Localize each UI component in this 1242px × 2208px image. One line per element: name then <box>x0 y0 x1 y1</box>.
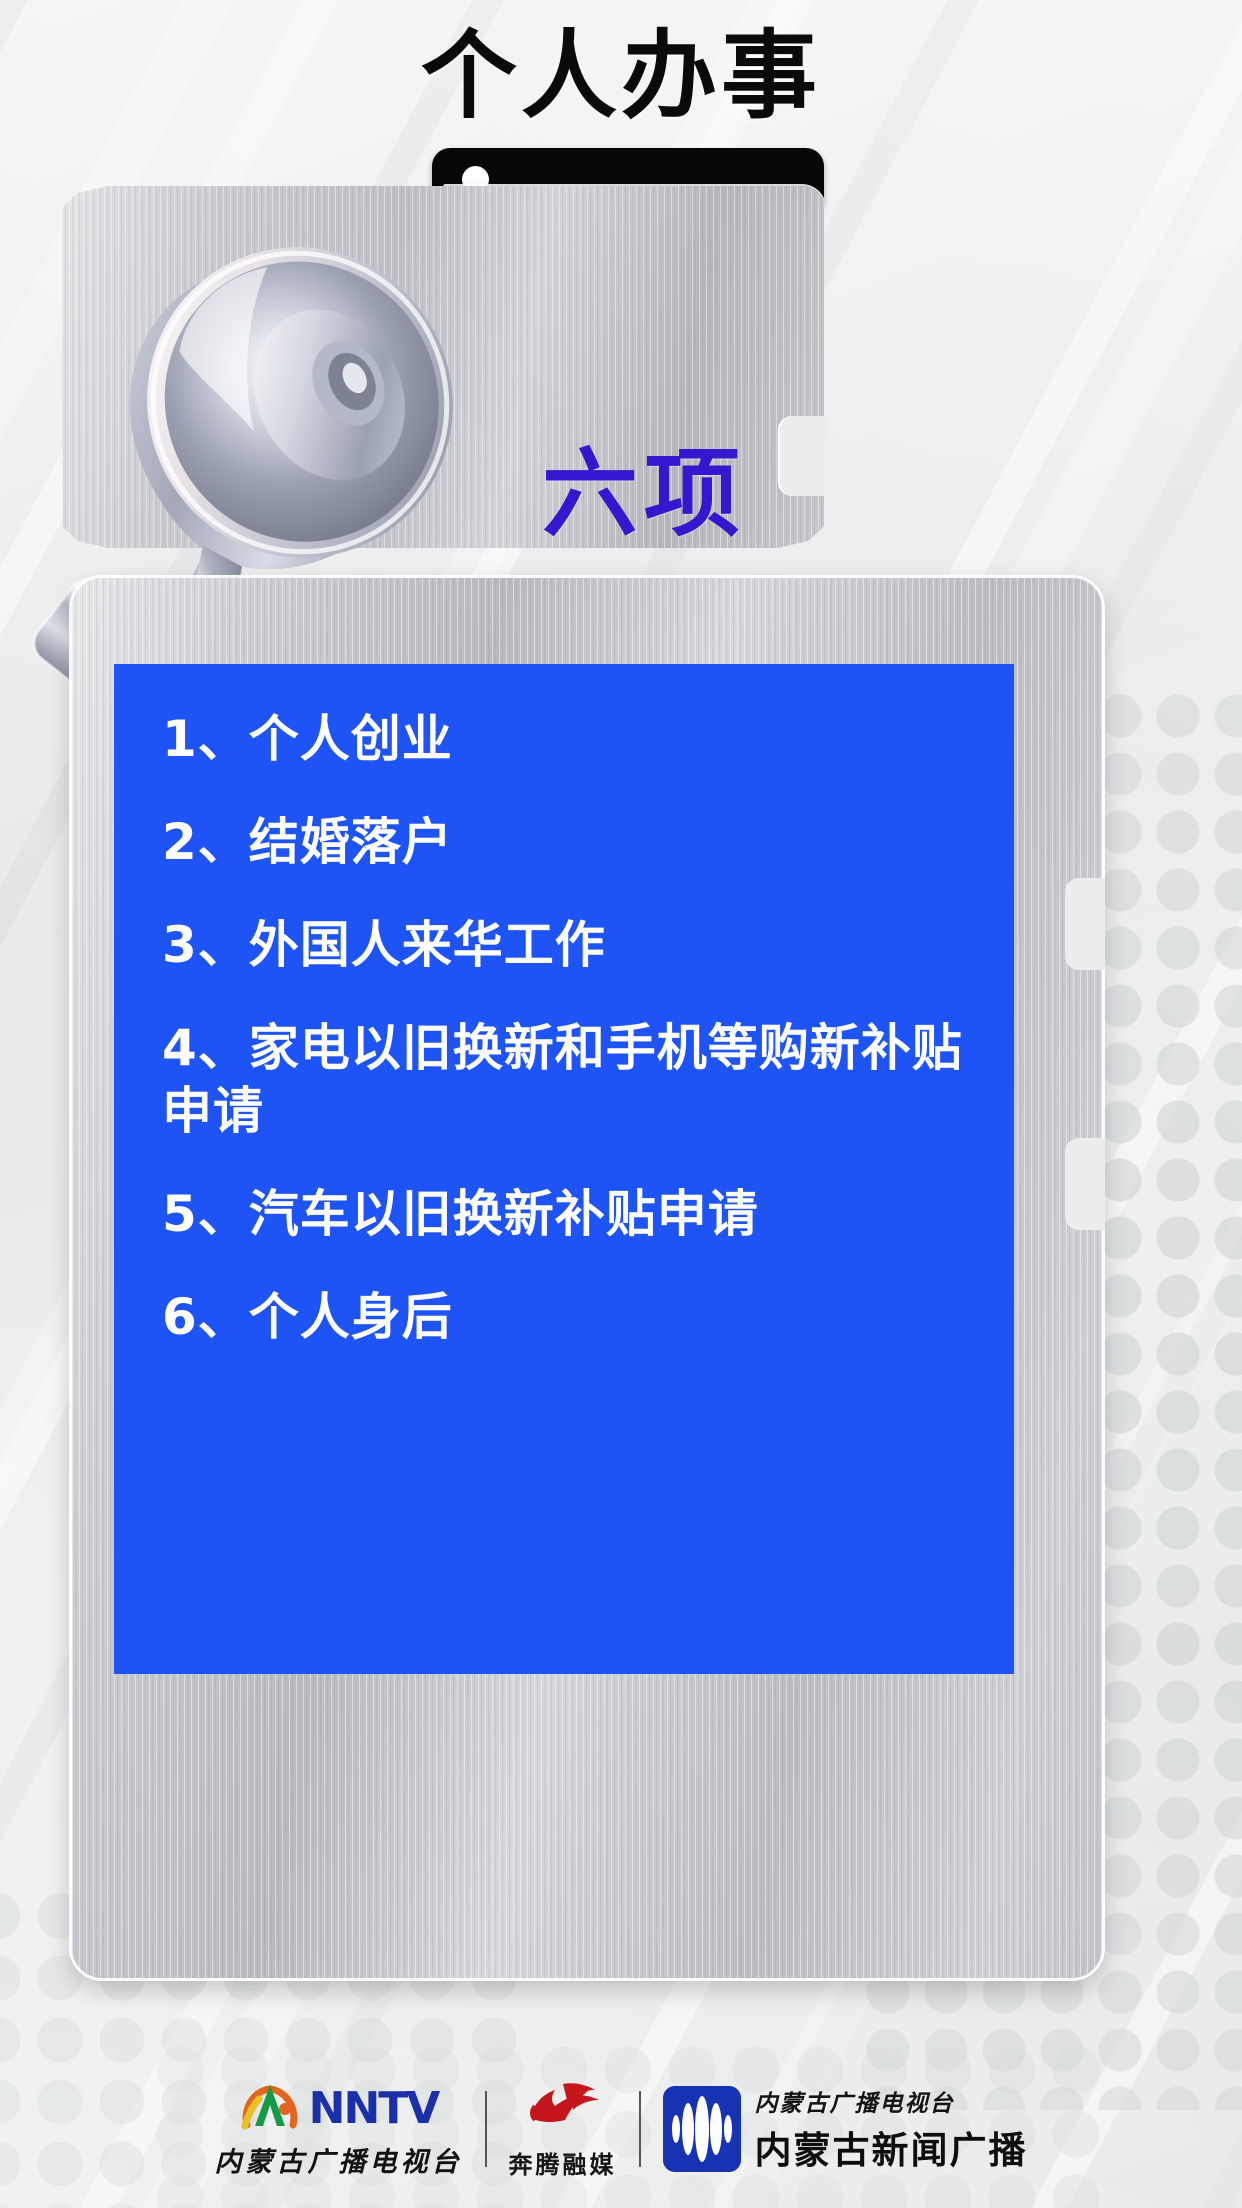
items-panel: 1、个人创业 2、结婚落户 3、外国人来华工作 4、家电以旧换新和手机等购新补贴… <box>72 578 1102 1978</box>
list-item[interactable]: 5、汽车以旧换新补贴申请 <box>162 1183 992 1246</box>
red-horse-logo-icon <box>521 2078 605 2141</box>
footer-logos: NNTV 内蒙古广播电视台 奔腾融媒 <box>0 2074 1242 2184</box>
list-item[interactable]: 6、个人身后 <box>162 1286 992 1349</box>
items-list: 1、个人创业 2、结婚落户 3、外国人来华工作 4、家电以旧换新和手机等购新补贴… <box>114 664 1014 1674</box>
panel-edge-notch-bottom <box>1065 1138 1105 1230</box>
list-item[interactable]: 2、结婚落户 <box>162 811 992 874</box>
list-item[interactable]: 4、家电以旧换新和手机等购新补贴申请 <box>162 1017 992 1143</box>
logo-nmtv: NNTV 内蒙古广播电视台 <box>215 2079 463 2179</box>
logo-benteng: 奔腾融媒 <box>509 2078 617 2180</box>
logo-nmg-radio: 内蒙古广播电视台 内蒙古新闻广播 <box>663 2084 1028 2174</box>
nmtv-caption: 内蒙古广播电视台 <box>215 2140 463 2179</box>
folder-label: 六项 <box>542 416 822 555</box>
nmg-radio-caption-main: 内蒙古新闻广播 <box>755 2120 1028 2174</box>
footer-divider <box>485 2091 487 2167</box>
poster-canvas: 个人办事 六项 <box>0 0 1242 2208</box>
nmg-radio-caption-top: 内蒙古广播电视台 <box>755 2084 1028 2118</box>
nmtv-arch-logo-icon <box>239 2079 301 2138</box>
panel-edge-notch-top <box>1065 878 1105 970</box>
page-title: 个人办事 <box>0 26 1242 127</box>
nmtv-wordmark: NNTV <box>309 2083 439 2134</box>
list-item[interactable]: 1、个人创业 <box>162 708 992 771</box>
footer-divider <box>639 2091 641 2167</box>
benteng-caption: 奔腾融媒 <box>509 2145 617 2180</box>
soundwave-logo-icon <box>663 2086 741 2172</box>
list-item[interactable]: 3、外国人来华工作 <box>162 914 992 977</box>
